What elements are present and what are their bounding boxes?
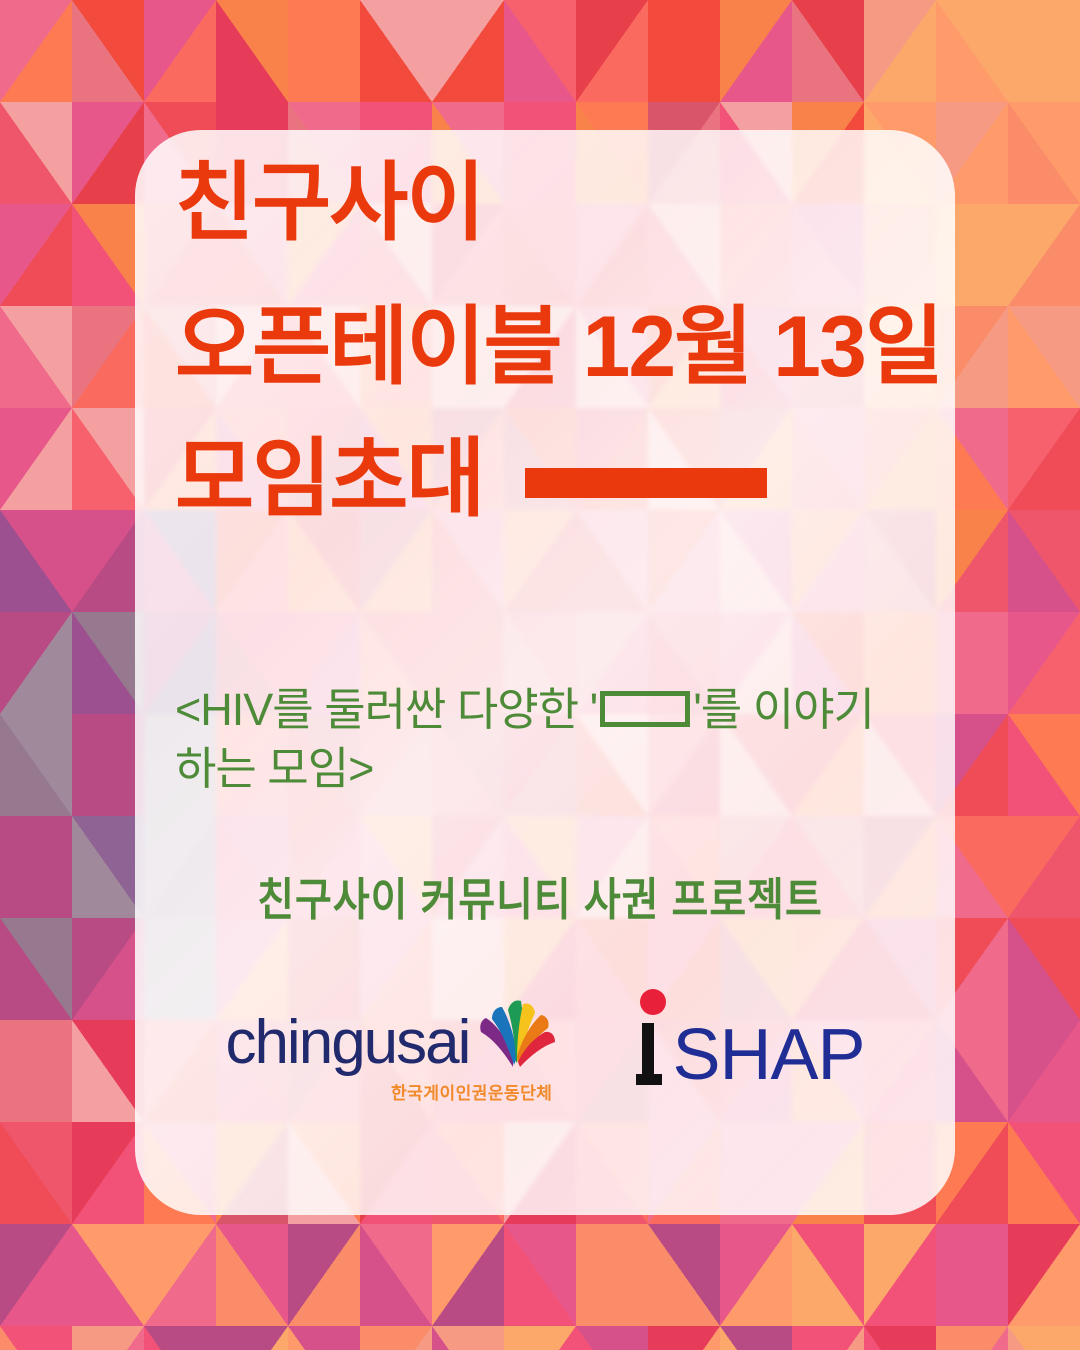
subtitle-text-before: <HIV를 둘러싼 다양한 ' xyxy=(175,684,597,735)
ishap-logo: SHAP xyxy=(634,955,864,1085)
ishap-i-base xyxy=(636,1074,662,1085)
red-dot-icon xyxy=(640,989,666,1015)
logo-row: chingusai 한국게이인권운동단체 xyxy=(135,955,955,1115)
headline-line-3-row: 모임초대 xyxy=(175,436,935,522)
empty-rectangle-placeholder xyxy=(600,691,690,727)
chingusai-logo-row: chingusai xyxy=(225,977,580,1073)
chingusai-wordmark: chingusai xyxy=(225,1014,469,1073)
project-subtitle: 친구사이 커뮤니티 사권 프로젝트 xyxy=(0,864,1080,929)
ishap-wordmark: SHAP xyxy=(672,1026,864,1085)
rainbow-fan-icon xyxy=(473,977,555,1069)
horizontal-rule-icon xyxy=(525,468,767,498)
subtitle-description: <HIV를 둘러싼 다양한 ''를 이야기 하는 모임> xyxy=(175,680,915,799)
poster-canvas: 친구사이 오픈테이블 12월 13일 모임초대 <HIV를 둘러싼 다양한 ''… xyxy=(0,0,1080,1350)
ishap-logo-row: SHAP xyxy=(634,989,864,1085)
headline-block: 친구사이 오픈테이블 12월 13일 모임초대 xyxy=(175,160,935,522)
chingusai-logo: chingusai 한국게이인권운동단체 xyxy=(225,955,580,1104)
headline-line-1: 친구사이 xyxy=(175,160,935,246)
ishap-letter-i xyxy=(634,989,674,1085)
headline-line-3: 모임초대 xyxy=(175,436,483,522)
headline-line-2: 오픈테이블 12월 13일 xyxy=(175,304,935,390)
chingusai-tagline: 한국게이인권운동단체 xyxy=(225,1079,580,1104)
